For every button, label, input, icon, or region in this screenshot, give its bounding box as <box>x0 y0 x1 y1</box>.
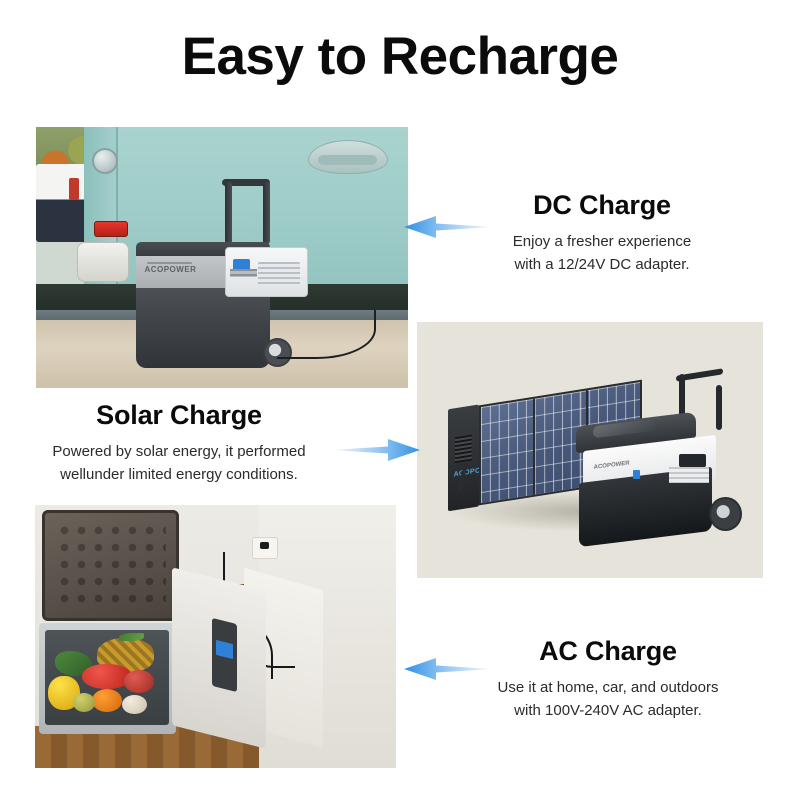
fruit-pear <box>73 693 95 712</box>
photo-dc-charge: ACOPOWER <box>36 127 408 388</box>
fruit-tomato <box>92 689 122 712</box>
fruit-apple <box>124 670 154 693</box>
fridge-indicator <box>633 470 640 479</box>
fridge-vent-left <box>230 269 257 277</box>
description-dc-charge: Enjoy a fresher experience with a 12/24V… <box>452 231 752 276</box>
rv-fuel-cap <box>92 148 118 174</box>
fridge-vent <box>669 467 709 483</box>
page-title: Easy to Recharge <box>0 28 800 86</box>
rv-tail-light <box>94 221 128 237</box>
solar-panel-frame: ACOPOWER <box>448 404 479 511</box>
photo-solar-charge: ACOPOWER ACOPOWER <box>417 322 763 578</box>
rv-door-handle <box>308 140 388 174</box>
fridge-lower-shell <box>136 288 269 369</box>
lid-dimple-pattern <box>56 522 166 610</box>
description-ac-charge: Use it at home, car, and outdoors with 1… <box>452 677 764 722</box>
fridge-open-lid <box>42 510 179 620</box>
infographic-page: Easy to Recharge ACOPOWER <box>0 0 800 800</box>
fridge-wheel <box>709 497 742 532</box>
fridge-control-module <box>225 247 307 297</box>
pineapple-leaves <box>119 633 144 641</box>
trolley-handle-right <box>263 182 270 245</box>
fridge-lid-inset <box>593 419 655 439</box>
fridge-display <box>679 454 706 467</box>
fridge-display <box>216 639 233 658</box>
fridge-control-panel <box>212 618 237 693</box>
portable-fridge-dc: ACOPOWER <box>136 242 307 373</box>
fridge-vent-right <box>258 262 300 285</box>
heading-solar-charge: Solar Charge <box>18 400 340 431</box>
panel-divider-1 <box>534 398 536 495</box>
fridge-grip <box>147 262 192 264</box>
rv-water-tank <box>77 242 129 282</box>
brand-logo-text: ACOPOWER <box>144 265 196 274</box>
portable-fridge-solar: ACOPOWER <box>576 414 742 547</box>
text-block-ac-charge: AC Charge Use it at home, car, and outdo… <box>452 636 764 722</box>
fridge-interior <box>45 630 168 725</box>
trolley-handle-right <box>716 385 722 430</box>
description-solar-charge: Powered by solar energy, it performed we… <box>18 441 340 486</box>
heading-ac-charge: AC Charge <box>452 636 764 667</box>
heading-dc-charge: DC Charge <box>452 190 752 221</box>
fruit-onion <box>122 695 147 714</box>
trolley-handle-left <box>225 182 232 245</box>
arrow-right-solar <box>330 437 422 463</box>
photo-ac-charge <box>35 505 396 768</box>
fridge-compartment <box>39 623 176 733</box>
text-block-dc-charge: DC Charge Enjoy a fresher experience wit… <box>452 190 752 276</box>
text-block-solar-charge: Solar Charge Powered by solar energy, it… <box>18 400 340 486</box>
brand-logo-text: ACOPOWER <box>593 461 629 471</box>
